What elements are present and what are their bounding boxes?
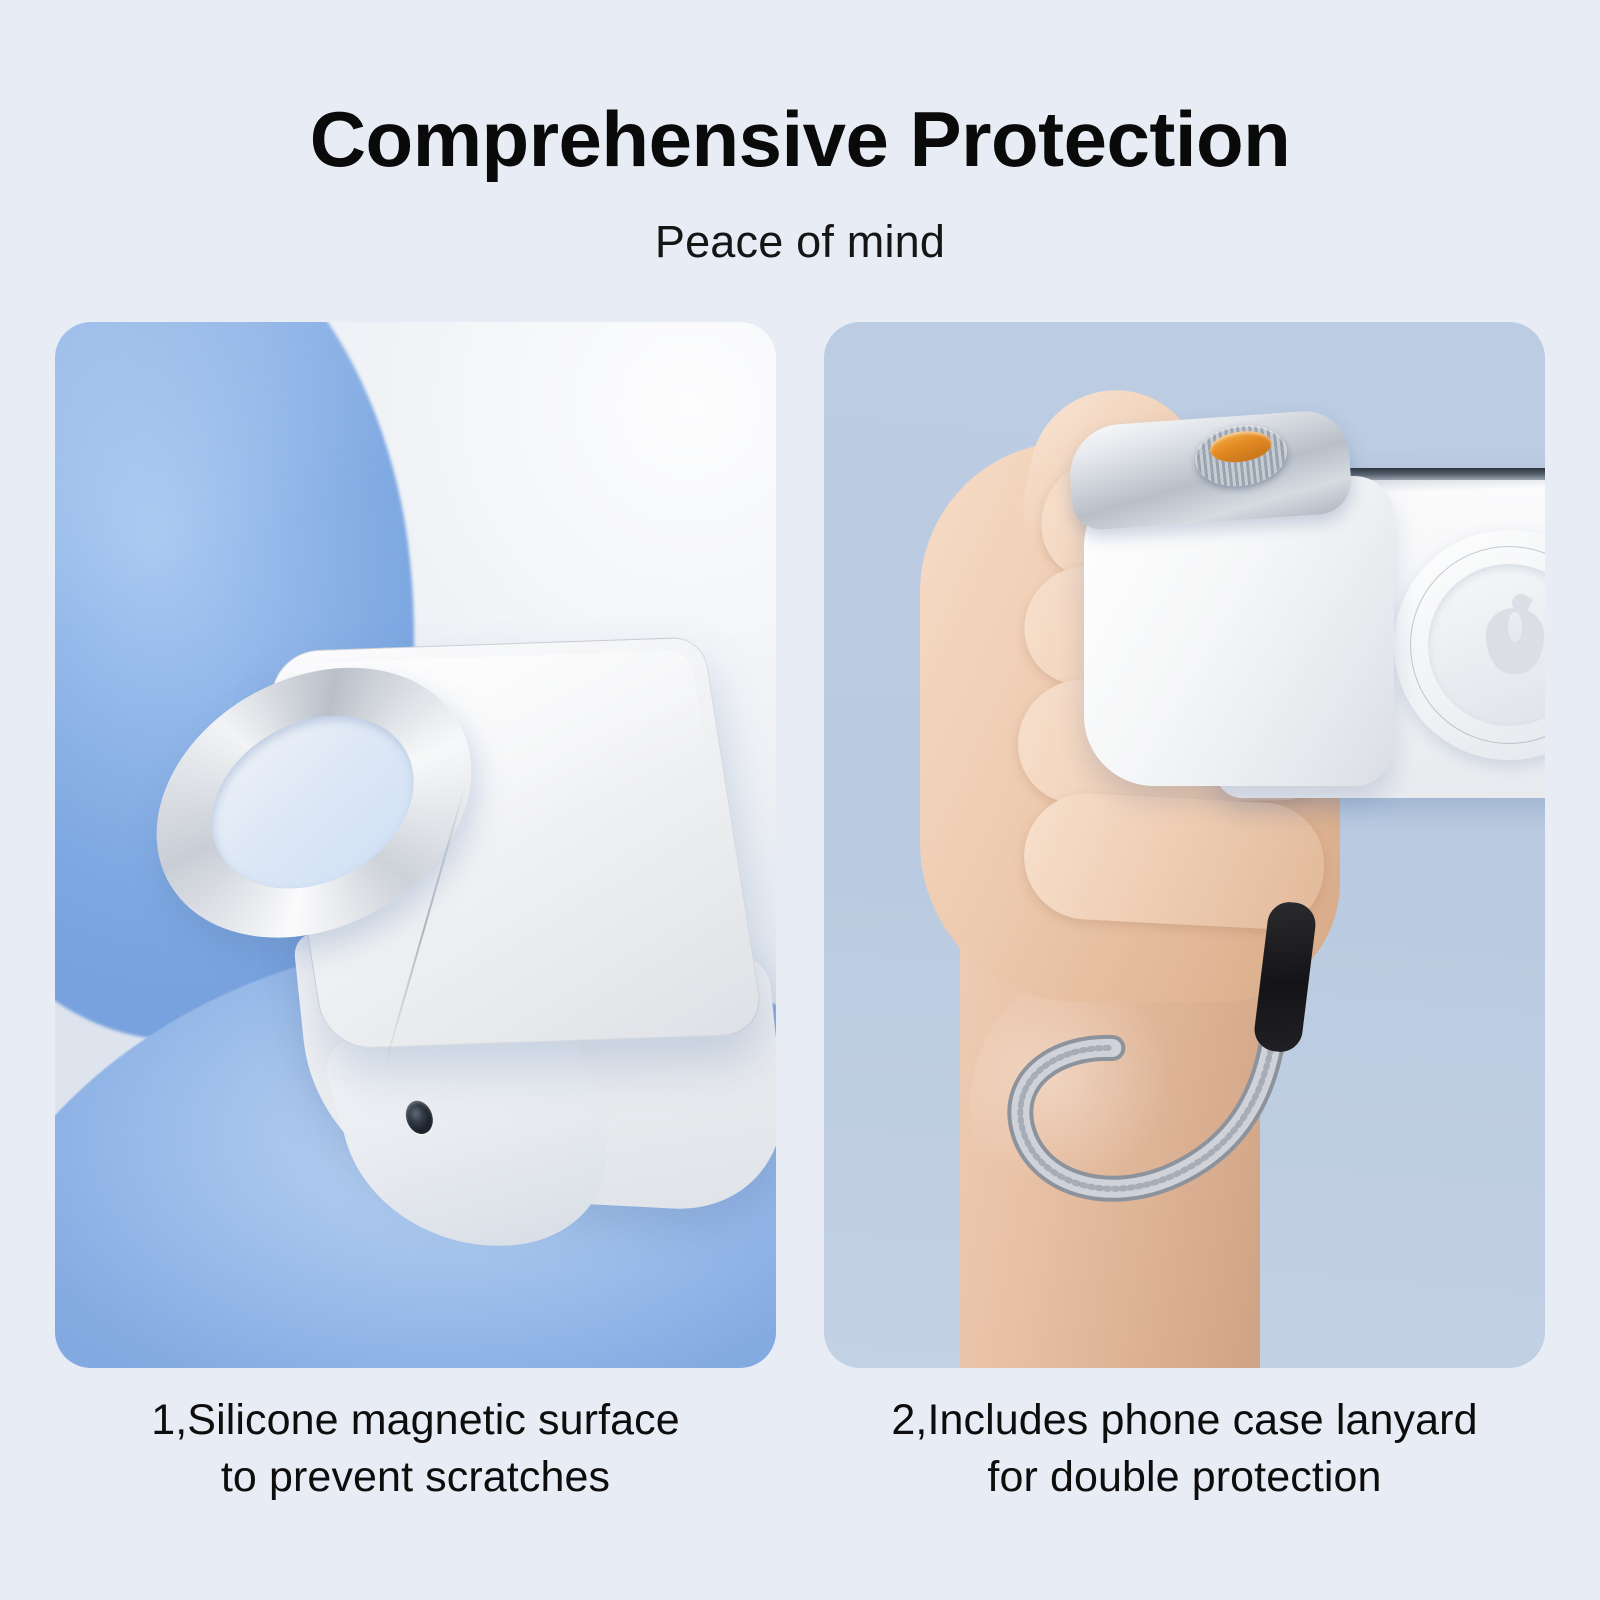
feature-captions: 1,Silicone magnetic surface to prevent s…: [55, 1392, 1545, 1506]
page-header: Comprehensive Protection Peace of mind: [0, 0, 1600, 268]
caption-silicone-line1: 1,Silicone magnetic surface: [55, 1392, 776, 1449]
page-subtitle: Peace of mind: [0, 216, 1600, 268]
feature-panel-lanyard: TELESIN: [824, 322, 1545, 1368]
caption-lanyard-line1: 2,Includes phone case lanyard: [824, 1392, 1545, 1449]
silicone-grip-product: [122, 592, 776, 1212]
caption-lanyard: 2,Includes phone case lanyard for double…: [824, 1392, 1545, 1506]
caption-lanyard-line2: for double protection: [824, 1449, 1545, 1506]
feature-panels: TELESIN: [55, 322, 1545, 1368]
caption-silicone: 1,Silicone magnetic surface to prevent s…: [55, 1392, 776, 1506]
caption-silicone-line2: to prevent scratches: [55, 1449, 776, 1506]
wrist-lanyard: [824, 322, 1545, 1368]
feature-panel-silicone: [55, 322, 776, 1368]
page-title: Comprehensive Protection: [0, 100, 1600, 178]
